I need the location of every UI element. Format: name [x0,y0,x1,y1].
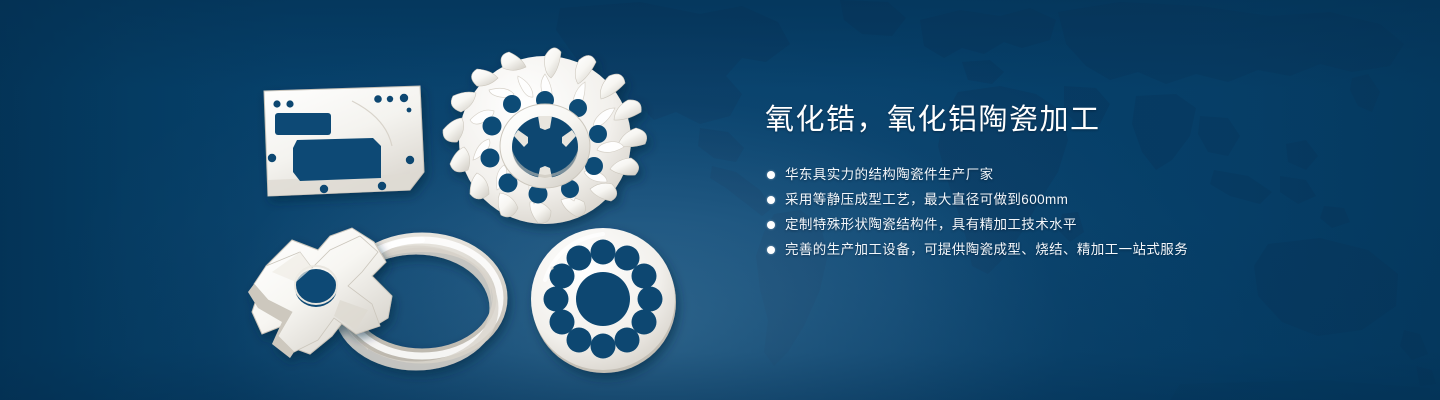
list-item-label: 完善的生产加工设备，可提供陶瓷成型、烧结、精加工一站式服务 [785,237,1188,262]
ceramic-products-image [0,0,720,400]
list-item-label: 华东具实力的结构陶瓷件生产厂家 [785,162,994,187]
ceramic-valve-plate [531,228,676,373]
feature-list: 华东具实力的结构陶瓷件生产厂家 采用等静压成型工艺，最大直径可做到600mm 定… [765,162,1405,262]
list-item-label: 定制特殊形状陶瓷结构件，具有精加工技术水平 [785,212,1077,237]
ceramic-impeller [443,48,647,224]
list-item: 定制特殊形状陶瓷结构件，具有精加工技术水平 [767,212,1405,237]
page-title: 氧化锆，氧化铝陶瓷加工 [765,100,1405,140]
hero-banner: 氧化锆，氧化铝陶瓷加工 华东具实力的结构陶瓷件生产厂家 采用等静压成型工艺，最大… [0,0,1440,400]
banner-copy: 氧化锆，氧化铝陶瓷加工 华东具实力的结构陶瓷件生产厂家 采用等静压成型工艺，最大… [765,100,1405,262]
bullet-dot-icon [767,196,775,204]
bullet-dot-icon [767,221,775,229]
list-item: 完善的生产加工设备，可提供陶瓷成型、烧结、精加工一站式服务 [767,237,1405,262]
bullet-dot-icon [767,246,775,254]
list-item-label: 采用等静压成型工艺，最大直径可做到600mm [785,187,1068,212]
list-item: 采用等静压成型工艺，最大直径可做到600mm [767,187,1405,212]
ceramic-base-plate [264,86,424,196]
bullet-dot-icon [767,171,775,179]
list-item: 华东具实力的结构陶瓷件生产厂家 [767,162,1405,187]
